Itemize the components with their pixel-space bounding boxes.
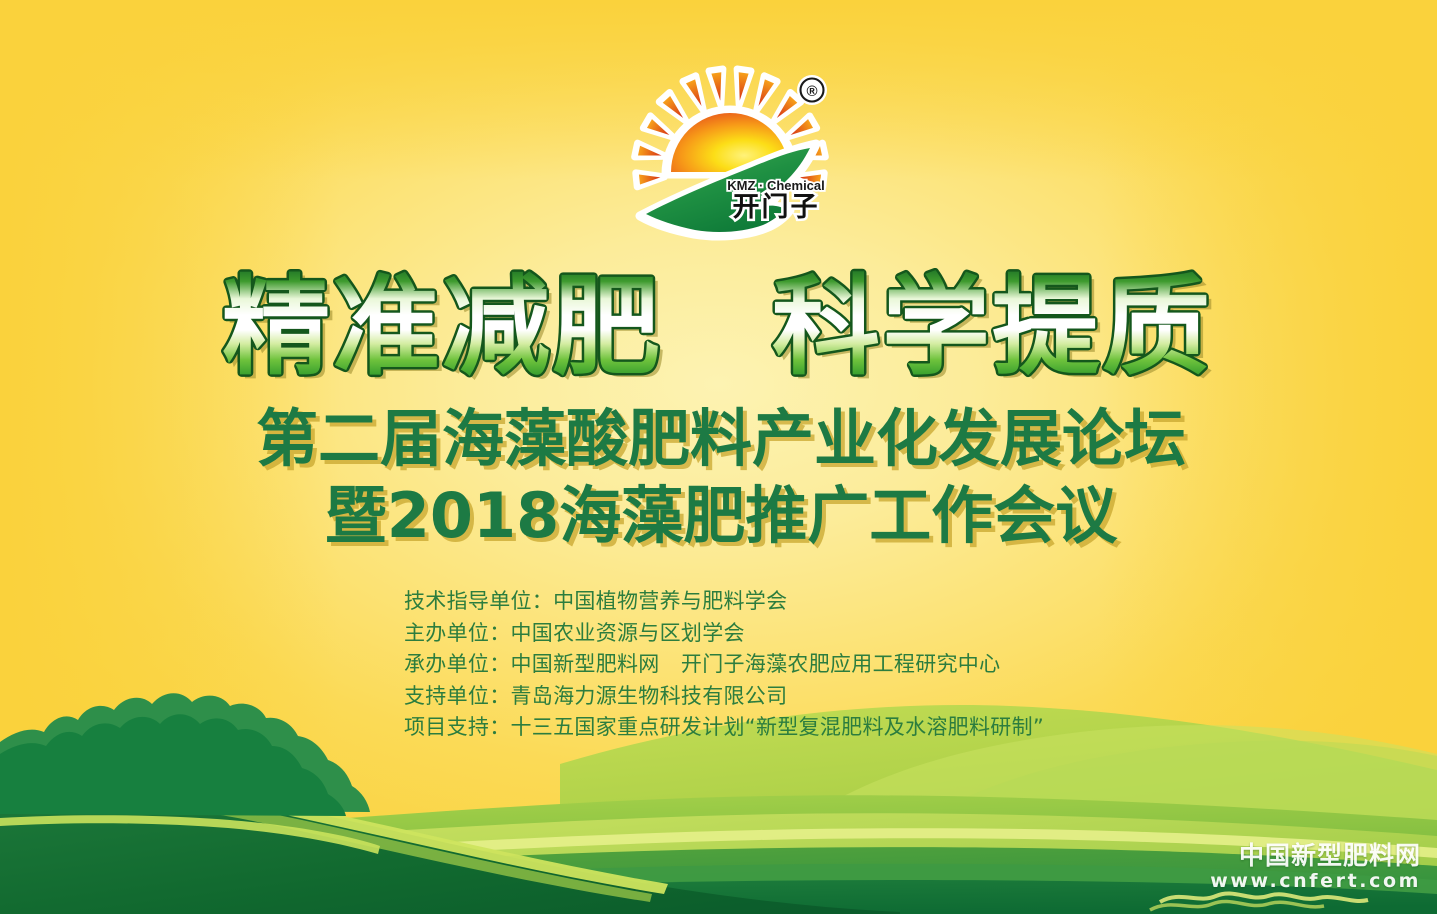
headline-text: 精准减肥 科学提质 [221,268,1211,390]
detail-line-organizer: 承办单位：中国新型肥料网 开门子海藻农肥应用工程研究中心 [404,649,1164,681]
svg-text:®: ® [806,83,817,100]
registered-trademark-icon: ® [797,75,827,105]
kmz-chemical-logo: KMZ · Chemical 开门子 ® [626,62,836,242]
subtitle-line1: 第二届海藻酸肥料产业化发展论坛 [255,402,1185,475]
detail-line-host: 主办单位：中国农业资源与区划学会 [404,618,1164,650]
conference-poster: KMZ · Chemical 开门子 ® [0,0,1437,914]
detail-line-project-support: 项目支持：十三五国家重点研发计划“新型复混肥料及水溶肥料研制” [404,712,1164,744]
subtitle-line2: 暨2018海藻肥推广工作会议 [324,479,1118,552]
logo-english-name: KMZ · Chemical [727,178,825,193]
detail-line-supporter: 支持单位：青岛海力源生物科技有限公司 [404,681,1164,713]
logo-chinese-name: 开门子 [733,192,820,223]
watermark-site-name: 中国新型肥料网 [1210,842,1421,870]
site-watermark: 中国新型肥料网 www.cnfert.com [1210,842,1421,894]
main-headline: 精准减肥 科学提质 精准减肥 科学提质 [0,268,1437,392]
watermark-url: www.cnfert.com [1210,870,1421,894]
organizer-details: 技术指导单位：中国植物营养与肥料学会 主办单位：中国农业资源与区划学会 承办单位… [404,586,1164,744]
detail-line-technical-guidance: 技术指导单位：中国植物营养与肥料学会 [404,586,1164,618]
subtitle-block: 第二届海藻酸肥料产业化发展论坛 第二届海藻酸肥料产业化发展论坛 暨2018海藻肥… [0,398,1437,558]
